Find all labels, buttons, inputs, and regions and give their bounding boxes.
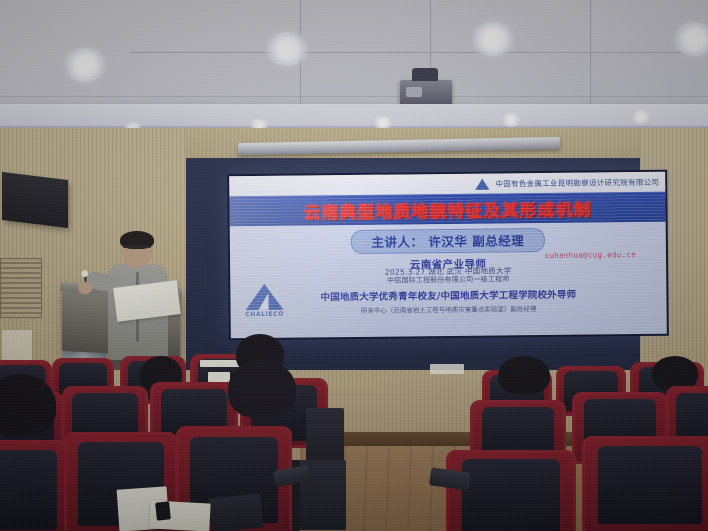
presenter-glasses bbox=[123, 246, 151, 254]
attendee-head bbox=[652, 356, 698, 390]
seat bbox=[0, 440, 70, 531]
seat-tablet-arm bbox=[208, 493, 263, 531]
phone-on-seat bbox=[155, 501, 171, 520]
lecture-hall-photo: 中国有色金属工业昆明勘察设计研究院有限公司 云南典型地质地貌特征及其形成机制 主… bbox=[0, 0, 708, 531]
wall-speaker bbox=[2, 172, 68, 228]
projector-lens bbox=[406, 87, 422, 97]
projection-screen-frame: 中国有色金属工业昆明勘察设计研究院有限公司 云南典型地质地貌特征及其形成机制 主… bbox=[227, 170, 669, 341]
ceiling-projector bbox=[400, 80, 452, 106]
chalieco-triangle-logo bbox=[474, 177, 490, 190]
projection-screen: 中国有色金属工业昆明勘察设计研究院有限公司 云南典型地质地貌特征及其形成机制 主… bbox=[229, 172, 667, 339]
ceiling-downlight bbox=[62, 48, 108, 82]
speaker-pill: 主讲人： 许汉华 副总经理 bbox=[350, 228, 545, 254]
seat bbox=[446, 450, 576, 531]
ceiling-downlight bbox=[470, 22, 516, 56]
slide-title-band: 云南典型地质地貌特征及其形成机制 bbox=[229, 192, 665, 227]
speaker-name-label: 主讲人： 许汉华 副总经理 bbox=[371, 233, 524, 250]
attendee-silhouette bbox=[228, 360, 296, 418]
slide-line-4: 研发中心（云南省岩土工程与地质灾害重点实验室）副总经理 bbox=[361, 303, 537, 315]
ceiling-downlight bbox=[264, 32, 310, 66]
seat bbox=[582, 436, 708, 531]
ceiling-seam bbox=[130, 52, 708, 53]
attendee-head bbox=[498, 356, 550, 394]
soffit-spot-light bbox=[630, 110, 652, 124]
slide-title: 云南典型地质地貌特征及其形成机制 bbox=[303, 195, 591, 223]
slide-line-3: 中国地质大学优秀青年校友/中国地质大学工程学院校外导师 bbox=[320, 287, 576, 304]
projector-mount bbox=[412, 68, 438, 81]
slide-body: 主讲人： 许汉华 副总经理 云南省产业导师 中铝国际工程股份有限公司一级工程师 … bbox=[230, 222, 667, 339]
seat-number-tag bbox=[208, 372, 230, 382]
chalieco-logo: CHALIECO bbox=[238, 284, 290, 321]
ceiling-seam bbox=[0, 96, 708, 97]
slide-header-company: 中国有色金属工业昆明勘察设计研究院有限公司 bbox=[495, 176, 659, 189]
presenter-hand bbox=[78, 282, 92, 294]
chalieco-logo-text: CHALIECO bbox=[239, 311, 291, 319]
soffit-spot-light bbox=[500, 113, 522, 127]
slide-date-place: 2025.3.27 湖北 武汉 中国地质大学 bbox=[385, 265, 512, 277]
wall-notice bbox=[430, 364, 464, 374]
slide-email: xuhanhua@cug.edu.cn bbox=[544, 250, 636, 260]
seat-tablet-arm bbox=[306, 408, 344, 466]
wall-air-vent bbox=[0, 258, 42, 318]
